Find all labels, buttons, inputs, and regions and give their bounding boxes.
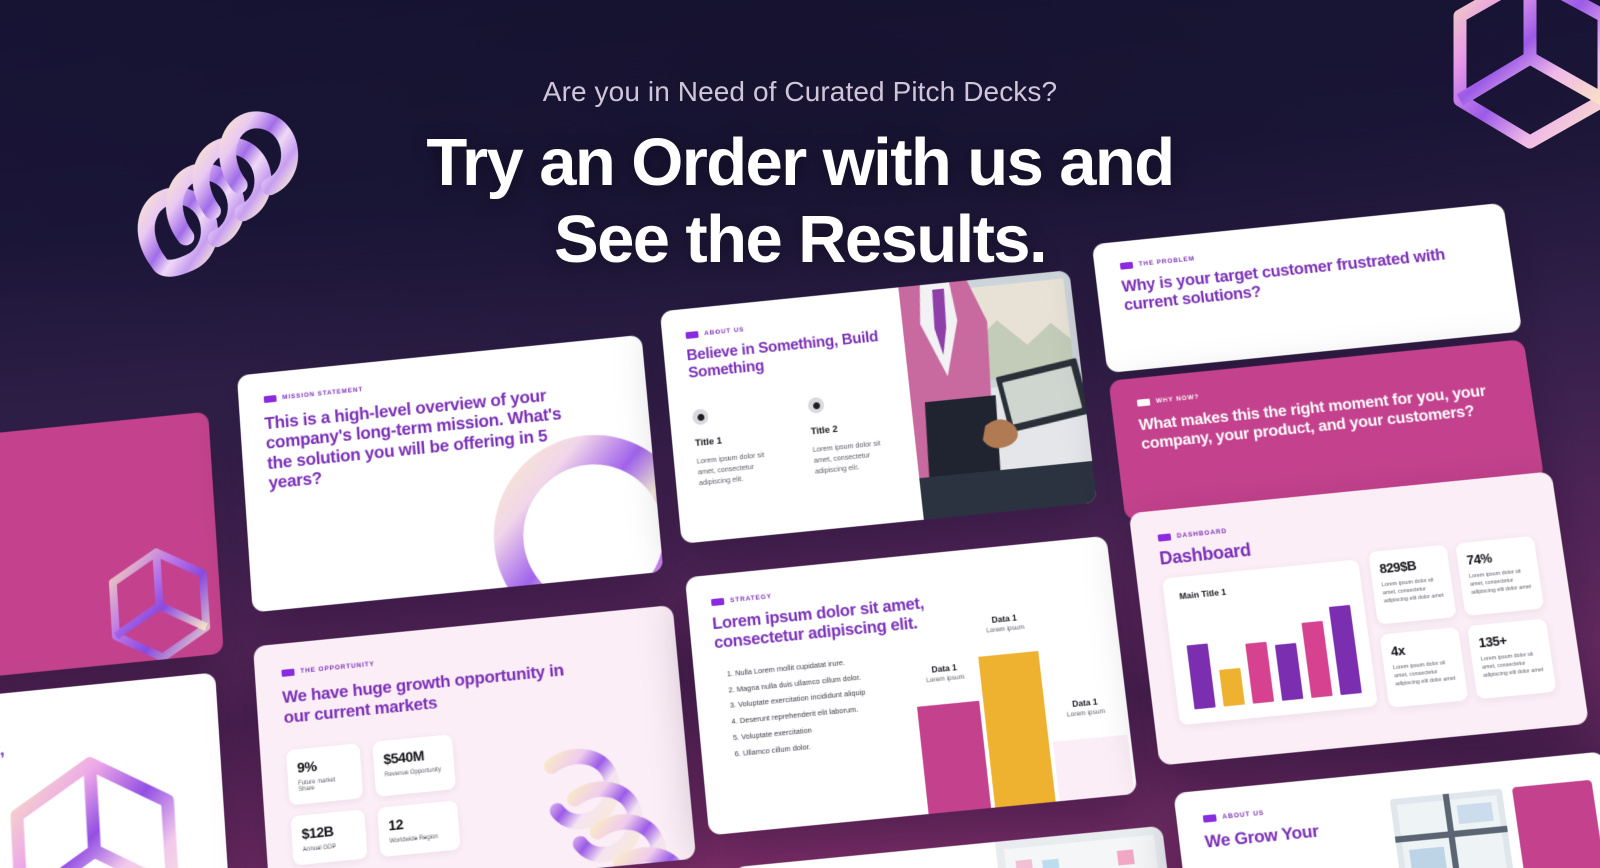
- slide-card-grow[interactable]: ABOUT US We Grow Your: [1173, 751, 1600, 868]
- slide-card-strategy[interactable]: STRATEGY Lorem ipsum dolor sit amet, con…: [685, 536, 1138, 836]
- problem-heading: Why is your target customer frustrated w…: [1121, 245, 1460, 316]
- slide-card-mission[interactable]: MISSION STATEMENT This is a high-level o…: [237, 335, 664, 613]
- bar: [1187, 644, 1216, 710]
- dashboard-kpis: 829$B Lorem ipsum dolor sit amet, consec…: [1368, 536, 1556, 708]
- strategy-label-text: STRATEGY: [730, 593, 772, 604]
- list-item: Voluptate exercitation: [741, 713, 944, 741]
- slide-card-about[interactable]: ABOUT US Believe in Something, Build Som…: [660, 270, 1097, 544]
- problem-label: THE PROBLEM: [1120, 255, 1195, 269]
- kpi-caption: Lorem ipsum dolor sit amet, consectetur …: [1393, 658, 1457, 689]
- bar: [1245, 642, 1274, 704]
- bar: [1219, 668, 1245, 707]
- bar-3: Data 1 Lorem ipsum: [1053, 735, 1135, 802]
- kpi-value: 4x: [1390, 638, 1453, 659]
- stat-caption: Worldwide Region: [389, 833, 449, 845]
- dash-icon: [281, 669, 294, 677]
- slide-card-dashboard[interactable]: DASHBOARD Dashboard Main Title 1 829$B L…: [1129, 471, 1589, 765]
- about-label-text: ABOUT US: [704, 326, 745, 337]
- coil-icon: [501, 687, 697, 868]
- stat-value: 9%: [296, 754, 351, 775]
- stat-caption: Annual GDP: [303, 842, 357, 853]
- about-point-body: Lorem ipsum dolor sit amet, consectetur …: [696, 448, 784, 489]
- bar-sublabel: Lorem ipsum: [909, 672, 982, 686]
- about-point: Title 2 Lorem ipsum dolor sit amet, cons…: [807, 390, 900, 478]
- strategy-bar-chart: Data 1 Lorem ipsum Data 1 Lorem ipsum Da…: [910, 621, 1136, 814]
- whynow-label: WHY NOW?: [1137, 394, 1200, 407]
- opportunity-label: THE OPPORTUNITY: [281, 661, 375, 677]
- strategy-label: STRATEGY: [711, 593, 772, 606]
- about-photo: [898, 270, 1097, 520]
- bar-1: Data 1 Lorem ipsum: [917, 701, 991, 814]
- dashboard-label-text: DASHBOARD: [1176, 528, 1227, 540]
- stat-value: $12B: [301, 820, 356, 842]
- bar-sublabel: Lorem ipsum: [969, 622, 1042, 636]
- dash-icon: [685, 331, 698, 339]
- dash-icon: [1137, 399, 1151, 407]
- bar-label: Data 1: [968, 610, 1041, 627]
- bar-sublabel: Lorem ipsum: [1050, 706, 1123, 720]
- kpi-caption: Lorem ipsum dolor sit amet, consectetur …: [1469, 567, 1533, 597]
- about-points: Title 1 Lorem ipsum dolor sit amet, cons…: [692, 390, 900, 489]
- grow-heading: We Grow Your: [1204, 815, 1385, 853]
- bar-label: Data 1: [908, 660, 981, 677]
- stat-box: $12B Annual GDP: [290, 809, 367, 865]
- list-item: Voluptate exercitation incididunt aliqui…: [738, 682, 941, 710]
- chart-title: Main Title 1: [1179, 587, 1227, 602]
- bar-2: Data 1 Lorem ipsum: [978, 651, 1055, 808]
- cube-icon: [0, 727, 211, 868]
- bar-label: Data 1: [1048, 694, 1122, 711]
- dashboard-chart: Main Title 1: [1162, 559, 1378, 725]
- slide-card-opportunity[interactable]: THE OPPORTUNITY We have huge growth oppo…: [253, 605, 696, 868]
- pitch-deck-grid: Pitch Deck Lorem ipsum dolor sit amet MI…: [0, 0, 1600, 868]
- slide-card-bottom-mid[interactable]: [733, 826, 1185, 868]
- bottom-mid-photo: [995, 826, 1185, 868]
- bar: [1301, 621, 1332, 698]
- stat-value: 12: [388, 811, 449, 833]
- stat-value: $540M: [383, 745, 444, 767]
- bar: [1275, 643, 1303, 701]
- bullet-icon: [692, 408, 709, 425]
- slide-card-title[interactable]: Pitch Deck Lorem ipsum dolor sit amet: [0, 412, 224, 700]
- about-point: Title 1 Lorem ipsum dolor sit amet, cons…: [692, 401, 784, 489]
- stat-caption: Future market Share: [298, 776, 353, 793]
- mission-label: MISSION STATEMENT: [264, 386, 364, 403]
- kpi-value: 74%: [1466, 547, 1528, 568]
- problem-label-text: THE PROBLEM: [1138, 255, 1195, 267]
- kpi-box: 135+ Lorem ipsum dolor sit amet, consect…: [1467, 618, 1556, 699]
- kpi-value: 135+: [1478, 629, 1541, 650]
- list-item: Deserunt reprehenderit elit laborum.: [739, 697, 942, 725]
- grow-photo: [1390, 788, 1516, 868]
- dash-icon: [1120, 262, 1134, 270]
- grow-label-text: ABOUT US: [1222, 810, 1265, 821]
- stat-box: 12 Worldwide Region: [377, 800, 461, 857]
- about-point-title: Title 2: [810, 418, 896, 437]
- kpi-box: 4x Lorem ipsum dolor sit amet, consectet…: [1379, 627, 1468, 708]
- bullet-icon: [807, 397, 824, 414]
- strategy-list: Nulla Lorem mollit cupidatat irure. Magn…: [722, 650, 947, 767]
- kpi-value: 829$B: [1378, 555, 1440, 576]
- about-point-title: Title 1: [695, 430, 780, 449]
- dash-icon: [1158, 533, 1172, 541]
- kpi-box: 829$B Lorem ipsum dolor sit amet, consec…: [1368, 545, 1456, 625]
- list-item: Nulla Lorem mollit cupidatat irure.: [735, 650, 937, 678]
- slide-card-testimonial[interactable]: TESTIMONIAL Lorem ipsum dolor sit amet, …: [0, 672, 232, 868]
- opportunity-label-text: THE OPPORTUNITY: [300, 661, 375, 675]
- dash-icon: [1203, 814, 1217, 823]
- about-point-body: Lorem ipsum dolor sit amet, consectetur …: [812, 437, 900, 478]
- dash-icon: [264, 395, 277, 403]
- kpi-caption: Lorem ipsum dolor sit amet, consectetur …: [1381, 575, 1445, 605]
- whynow-label-text: WHY NOW?: [1156, 394, 1200, 405]
- opportunity-stats: 9% Future market Share $540M Revenue Opp…: [286, 734, 461, 865]
- grow-label: ABOUT US: [1203, 810, 1265, 823]
- kpi-caption: Lorem ipsum dolor sit amet, consectetur …: [1480, 650, 1544, 681]
- stat-caption: Revenue Opportunity: [384, 767, 444, 779]
- list-item: Magna nulla duis ullamco cillum dolor.: [736, 666, 938, 694]
- dashboard-title: Dashboard: [1158, 540, 1252, 570]
- stat-box: $540M Revenue Opportunity: [372, 734, 456, 797]
- dashboard-label: DASHBOARD: [1158, 528, 1228, 542]
- chart-bars: [1183, 597, 1362, 710]
- grow-accent-block: [1512, 780, 1600, 868]
- mission-label-text: MISSION STATEMENT: [282, 386, 363, 401]
- ring-icon: [460, 395, 663, 613]
- list-item: Ullamco cillum dolor.: [742, 729, 945, 757]
- bar: [1329, 605, 1362, 696]
- about-label: ABOUT US: [685, 326, 744, 339]
- kpi-box: 74% Lorem ipsum dolor sit amet, consecte…: [1455, 536, 1544, 616]
- dash-icon: [711, 598, 725, 606]
- stat-box: 9% Future market Share: [286, 743, 363, 805]
